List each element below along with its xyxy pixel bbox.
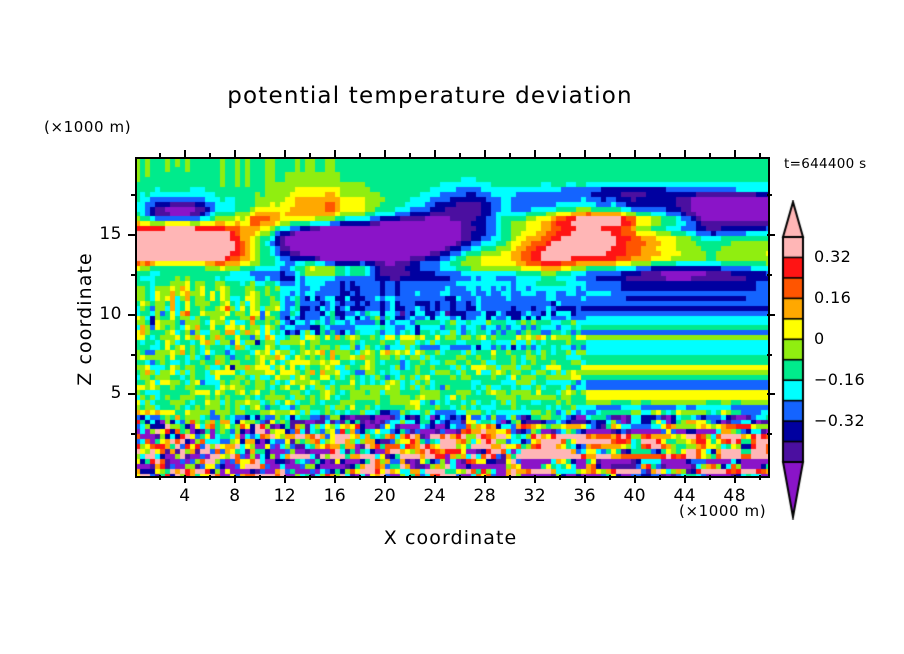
x-axis-title: X coordinate bbox=[135, 527, 766, 549]
x-tick-4 bbox=[184, 475, 186, 483]
x-tick-top-32 bbox=[534, 150, 536, 158]
plot-area bbox=[135, 157, 770, 478]
x-tick-top-44 bbox=[684, 150, 686, 158]
page-title: potential temperature deviation bbox=[0, 83, 860, 109]
x-minor-tick bbox=[209, 475, 211, 480]
x-tick-8 bbox=[234, 475, 236, 483]
x-tick-20 bbox=[384, 475, 386, 483]
y-minor-tick bbox=[767, 433, 772, 435]
x-minor-tick bbox=[359, 153, 361, 158]
colorbar-canvas bbox=[778, 200, 818, 520]
x-minor-tick bbox=[659, 475, 661, 480]
x-minor-tick bbox=[259, 153, 261, 158]
x-tick-top-28 bbox=[484, 150, 486, 158]
x-minor-tick bbox=[659, 153, 661, 158]
x-minor-tick bbox=[609, 153, 611, 158]
y-minor-tick bbox=[131, 354, 136, 356]
x-minor-tick bbox=[259, 475, 261, 480]
x-tick-top-48 bbox=[734, 150, 736, 158]
z-axis-units-label: (×1000 m) bbox=[44, 118, 131, 136]
x-tick-36 bbox=[584, 475, 586, 483]
x-minor-tick bbox=[509, 153, 511, 158]
time-annotation: t=644400 s bbox=[784, 156, 866, 172]
x-minor-tick bbox=[559, 153, 561, 158]
y-tick-right-15 bbox=[767, 234, 775, 236]
x-minor-tick bbox=[309, 475, 311, 480]
y-minor-tick bbox=[767, 354, 772, 356]
x-minor-tick bbox=[609, 475, 611, 480]
x-axis-units-label: (×1000 m) bbox=[679, 502, 766, 520]
x-minor-tick bbox=[709, 475, 711, 480]
x-tick-top-40 bbox=[634, 150, 636, 158]
y-minor-tick bbox=[131, 274, 136, 276]
x-minor-tick bbox=[559, 475, 561, 480]
x-minor-tick bbox=[709, 153, 711, 158]
colorbar-tick-label-4: −0.32 bbox=[814, 411, 865, 430]
colorbar-tick-label-0: 0.32 bbox=[814, 247, 851, 266]
x-tick-28 bbox=[484, 475, 486, 483]
x-tick-12 bbox=[284, 475, 286, 483]
colorbar-tick-label-3: −0.16 bbox=[814, 370, 865, 389]
y-tick-5 bbox=[128, 393, 136, 395]
x-minor-tick bbox=[459, 153, 461, 158]
figure-root: potential temperature deviation (×1000 m… bbox=[0, 0, 904, 654]
x-tick-44 bbox=[684, 475, 686, 483]
x-minor-tick bbox=[759, 153, 761, 158]
x-tick-24 bbox=[434, 475, 436, 483]
y-minor-tick bbox=[131, 194, 136, 196]
x-tick-32 bbox=[534, 475, 536, 483]
y-axis-title: Z coordinate bbox=[74, 209, 96, 429]
x-tick-top-20 bbox=[384, 150, 386, 158]
x-tick-16 bbox=[334, 475, 336, 483]
x-minor-tick bbox=[409, 153, 411, 158]
x-minor-tick bbox=[309, 153, 311, 158]
colorbar: 0.320.160−0.16−0.32 bbox=[778, 200, 898, 520]
contour-field-canvas bbox=[137, 159, 768, 476]
y-minor-tick bbox=[767, 274, 772, 276]
y-minor-tick bbox=[131, 433, 136, 435]
x-tick-top-4 bbox=[184, 150, 186, 158]
x-tick-top-24 bbox=[434, 150, 436, 158]
x-tick-48 bbox=[734, 475, 736, 483]
y-tick-10 bbox=[128, 314, 136, 316]
x-minor-tick bbox=[159, 475, 161, 480]
x-tick-top-8 bbox=[234, 150, 236, 158]
x-tick-top-12 bbox=[284, 150, 286, 158]
y-tick-right-10 bbox=[767, 314, 775, 316]
y-tick-15 bbox=[128, 234, 136, 236]
x-minor-tick bbox=[359, 475, 361, 480]
x-minor-tick bbox=[759, 475, 761, 480]
colorbar-tick-label-2: 0 bbox=[814, 329, 825, 348]
x-tick-40 bbox=[634, 475, 636, 483]
x-minor-tick bbox=[459, 475, 461, 480]
x-minor-tick bbox=[509, 475, 511, 480]
colorbar-tick-label-1: 0.16 bbox=[814, 288, 851, 307]
x-tick-top-36 bbox=[584, 150, 586, 158]
x-tick-top-16 bbox=[334, 150, 336, 158]
y-tick-right-5 bbox=[767, 393, 775, 395]
x-minor-tick bbox=[159, 153, 161, 158]
x-minor-tick bbox=[409, 475, 411, 480]
y-minor-tick bbox=[767, 194, 772, 196]
x-minor-tick bbox=[209, 153, 211, 158]
